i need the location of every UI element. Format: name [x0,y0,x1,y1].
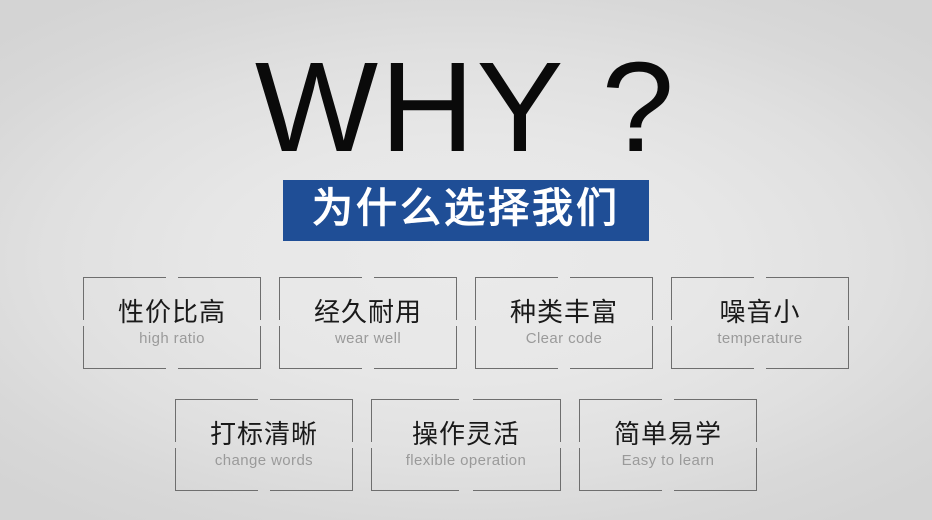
feature-title-cn: 种类丰富 [510,299,618,328]
feature-title-en: temperature [717,331,802,348]
feature-title-en: flexible operation [406,453,527,470]
page-title: WHY ? [255,44,676,172]
feature-title-cn: 经久耐用 [314,299,422,328]
feature-row-2: 打标清晰 change words 操作灵活 flexible operatio… [0,399,932,491]
promo-poster: WHY ? 为什么选择我们 性价比高 high ratio 经久耐用 we [0,0,932,520]
feature-title-en: change words [215,453,313,470]
feature-card-flexible-operation: 操作灵活 flexible operation [371,399,561,491]
feature-card-clear-code: 种类丰富 Clear code [475,277,653,369]
feature-title-cn: 性价比高 [118,299,226,328]
feature-title-cn: 操作灵活 [412,421,520,450]
subtitle-banner-text: 为什么选择我们 [301,186,631,232]
feature-grid: 性价比高 high ratio 经久耐用 wear well 种类丰富 Clea… [0,277,932,491]
feature-title-cn: 简单易学 [614,421,722,450]
feature-card-temperature: 噪音小 temperature [671,277,849,369]
feature-title-cn: 打标清晰 [210,421,318,450]
feature-title-cn: 噪音小 [719,299,800,328]
feature-card-wear-well: 经久耐用 wear well [279,277,457,369]
banner-area: 为什么选择我们 [0,180,932,241]
feature-title-en: high ratio [139,331,205,348]
feature-title-en: Easy to learn [622,453,715,470]
feature-title-en: wear well [335,331,401,348]
headline-area: WHY ? [0,44,932,172]
subtitle-banner: 为什么选择我们 [283,180,649,241]
feature-card-easy-to-learn: 简单易学 Easy to learn [579,399,757,491]
feature-card-change-words: 打标清晰 change words [175,399,353,491]
feature-row-1: 性价比高 high ratio 经久耐用 wear well 种类丰富 Clea… [0,277,932,369]
feature-title-en: Clear code [526,331,603,348]
feature-card-high-ratio: 性价比高 high ratio [83,277,261,369]
